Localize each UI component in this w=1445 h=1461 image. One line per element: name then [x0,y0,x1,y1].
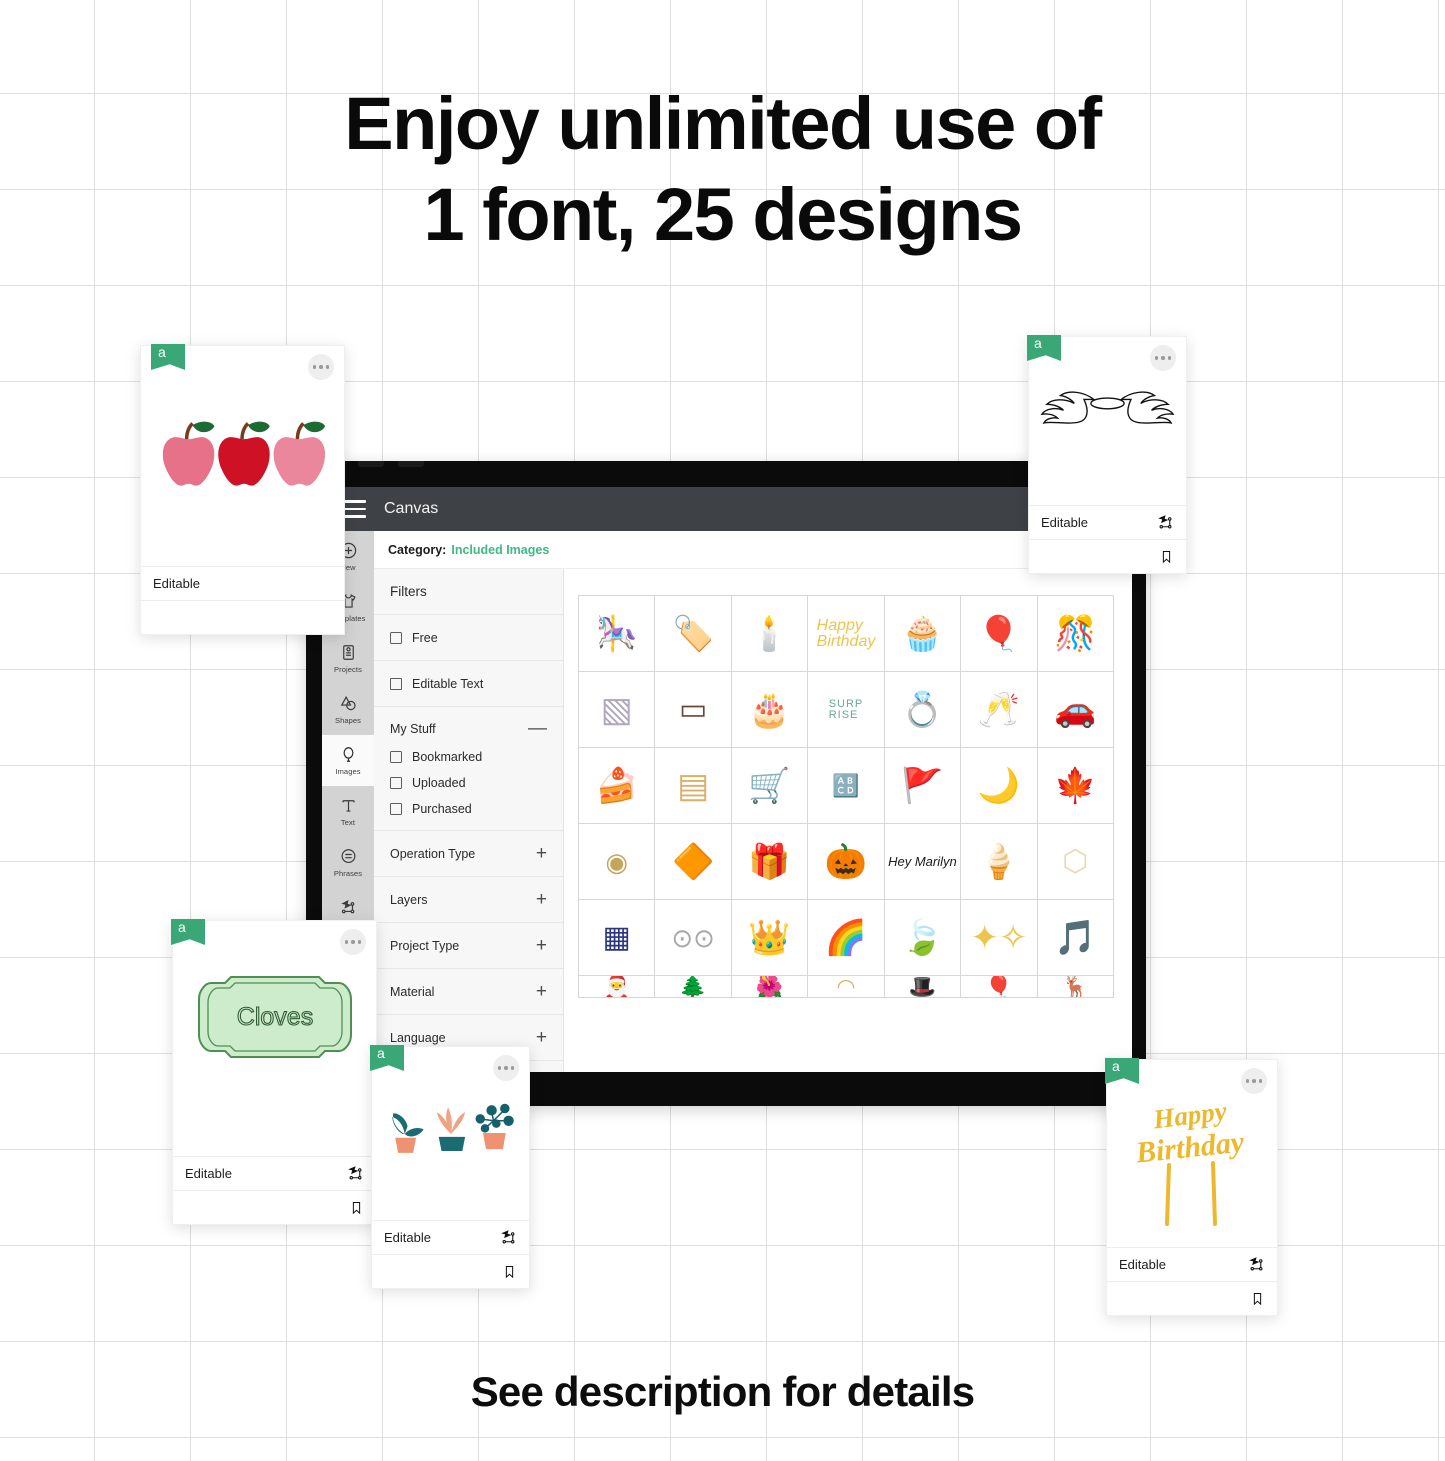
editable-label: Editable [185,1166,232,1181]
sidebar-item-phrases[interactable]: Phrases [322,837,374,888]
gnome-icon: 🎅 [603,976,630,998]
node-edit-icon[interactable] [1157,514,1174,531]
checkbox-free[interactable] [390,632,402,644]
card-footer-wings: Editable [1029,505,1186,539]
tiered-cake-icon: 🍰 [596,769,638,803]
checkbox-editable-text[interactable] [390,678,402,690]
image-cell[interactable]: 🎂 [732,672,808,748]
image-cell[interactable]: Hey Marilyn [885,824,961,900]
birthday-candles-icon: 🕯️ [748,617,790,651]
baby-letter-blocks-icon: 🔠 [832,775,859,797]
sidebar-item-images[interactable]: Images [322,735,374,786]
sidebar-item-shapes[interactable]: Shapes [322,684,374,735]
party-balloons-icon: 🎈 [985,976,1012,998]
image-cell[interactable]: 🍃 [885,900,961,976]
plus-icon-project-type[interactable]: + [536,936,547,955]
filter-section-operation-type[interactable]: Operation Type + [374,831,563,877]
image-cell[interactable]: 🚩 [885,748,961,824]
filter-free[interactable]: Free [374,615,563,661]
design-card-plants[interactable]: a [371,1046,530,1289]
image-cell[interactable]: 🥂 [961,672,1037,748]
image-cell[interactable]: 🎩 [885,976,961,998]
filters-column: Filters Free [374,569,564,1072]
image-cell[interactable]: ⊙⊙ [655,900,731,976]
editable-label: Editable [153,576,200,591]
pumpkin-icon: 🎃 [825,845,867,879]
three-potted-plants-icon [382,1094,519,1174]
bookmark-icon[interactable] [502,1264,517,1279]
filter-label-free: Free [412,631,438,645]
more-dots-icon[interactable] [340,929,366,955]
checkbox-uploaded[interactable] [390,777,402,789]
birthday-cake-sparkler-icon: 🎂 [748,693,790,727]
image-cell[interactable]: 🎃 [808,824,884,900]
filter-editable-text[interactable]: Editable Text [374,661,563,707]
card-footer-apples: Editable [141,566,344,600]
cloves-label-frame-icon: Cloves [183,969,366,1065]
gift-tag-card-icon: 🏷️ [672,617,714,651]
crown-icon: 👑 [748,921,790,955]
card-footer2-cloves [173,1190,376,1224]
image-cell[interactable]: 🎈 [961,596,1037,672]
label-material: Material [390,985,434,999]
image-cell[interactable]: 🧁 [885,596,961,672]
image-cell[interactable]: 👑 [732,900,808,976]
filter-purchased[interactable]: Purchased [374,796,563,822]
card-footer2-wings [1029,539,1186,573]
filters-heading: Filters [374,569,563,615]
image-cell[interactable]: 🏷️ [655,596,731,672]
design-card-angel-wings[interactable]: a Editable [1028,336,1187,574]
image-cell[interactable]: 🌺 [732,976,808,998]
category-label: Category: [388,543,446,557]
app-workarea: New Templates [322,531,1132,1072]
hey-marilyn-script-icon: Hey Marilyn [888,855,957,868]
black-hat-icon: 🎩 [909,976,936,998]
cupcakes-icon: 🧁 [901,617,943,651]
footer-note: See description for details [0,1368,1445,1416]
node-edit-icon[interactable] [1248,1256,1265,1273]
editable-label: Editable [1119,1257,1166,1272]
image-cell[interactable]: ▤ [655,748,731,824]
label-language: Language [390,1031,446,1045]
image-cell[interactable]: 🔠 [808,748,884,824]
giraffe-moon-icon: 🌙 [978,769,1020,803]
label-operation-type: Operation Type [390,847,475,861]
brand-badge-icon: a [370,1045,404,1071]
hexagon-tag-icon: ⬡ [1062,847,1088,877]
node-edit-icon[interactable] [347,1165,364,1182]
more-dots-icon[interactable] [308,354,334,380]
confetti-banner-icon: 🎊 [1054,617,1096,651]
sidebar-label-shapes: Shapes [335,716,361,725]
gold-sparkles-icon: ✦✧ [970,921,1027,955]
poster-canvas: Enjoy unlimited use of 1 font, 25 design… [0,0,1445,1461]
hamburger-icon[interactable] [342,500,366,518]
music-notes-icon: 🎵 [1054,921,1096,955]
folder-icon [339,643,358,662]
sidebar-item-text[interactable]: Text [322,786,374,837]
happy-birthday-gold-topper-icon: Happy Birthday [1117,1079,1267,1229]
image-grid: 🎠 🏷️ 🕯️ HappyBirthday 🧁 🎈 🎊 ▧ ▭ [578,595,1114,998]
card-preview-cloves: a Cloves [173,921,376,1156]
ornate-frame-icon: ▭ [679,695,707,725]
card-footer-cloves: Editable [173,1156,376,1190]
image-cell[interactable]: 🕯️ [732,596,808,672]
category-value[interactable]: Included Images [451,543,549,557]
badge-letter: a [377,1046,385,1060]
image-cell[interactable]: ▭ [655,672,731,748]
sidebar-label-phrases: Phrases [334,869,362,878]
gold-arch-icon: ◠ [836,976,855,998]
bookmark-icon[interactable] [349,1200,364,1215]
image-cell[interactable]: 🎠 [579,596,655,672]
more-dots-icon[interactable] [493,1055,519,1081]
champagne-toast-icon: 🥂 [978,693,1020,727]
volume-button-up[interactable] [358,461,384,467]
card-footer2-topper [1107,1281,1277,1315]
deer-antlers-icon: 🦌 [1062,976,1089,998]
baby-stroller-icon: 🛒 [748,769,790,803]
image-cell[interactable]: 🍦 [961,824,1037,900]
card-footer-plants: Editable [372,1220,529,1254]
bookmark-icon[interactable] [1159,549,1174,564]
panel-body: Filters Free [374,569,1132,1072]
design-card-apples[interactable]: a [140,345,345,635]
autumn-leaves-icon: 🍁 [1054,769,1096,803]
volume-button-down[interactable] [398,461,424,467]
node-edit-icon[interactable] [500,1229,517,1246]
thank-you-seal-icon: ◉ [605,849,628,875]
editable-label: Editable [1041,515,1088,530]
card-preview-topper: a Happy Birthday [1107,1060,1277,1247]
brand-badge-icon: a [171,919,205,945]
congrats-pennant-icon: 🚩 [901,769,943,803]
shapes-icon [339,694,358,713]
rocking-horse-icon: 🎠 [596,617,638,651]
sidebar-label-projects: Projects [334,665,362,674]
rainbow-icon: 🌈 [825,921,867,955]
plus-icon-language[interactable]: + [536,1028,547,1047]
lace-panel-icon: ▧ [601,693,633,727]
image-cell[interactable]: 🍰 [579,748,655,824]
filters-title: Filters [390,584,427,599]
label-layers: Layers [390,893,428,907]
image-cell[interactable]: 💍 [885,672,961,748]
image-cell[interactable]: 🔶 [655,824,731,900]
more-dots-icon[interactable] [1241,1068,1267,1094]
sidebar-label-text: Text [341,818,355,827]
gold-banner-icon: 🔶 [672,845,714,879]
image-cell[interactable]: 🌲 [655,976,731,998]
image-cell[interactable]: 🛒 [732,748,808,824]
filter-group-my-stuff: My Stuff — Bookmarked Uploaded [374,707,563,831]
wedding-rings-icon: ⊙⊙ [671,925,715,951]
ice-cream-cones-icon: 🍦 [978,845,1020,879]
design-card-cloves[interactable]: a Cloves Editable [172,920,377,1225]
badge-letter: a [1034,336,1042,350]
cloves-text: Cloves [236,1003,312,1031]
image-cell[interactable]: ⬡ [1038,824,1114,900]
image-cell[interactable]: 🌈 [808,900,884,976]
three-red-apples-icon [151,406,334,506]
plus-icon-operation-type[interactable]: + [536,844,547,863]
image-cell[interactable]: ✦✧ [961,900,1037,976]
tablet-device: Canvas New [306,461,1146,1106]
image-balloon-icon [339,745,358,764]
page-title: Enjoy unlimited use of 1 font, 25 design… [0,78,1445,260]
poinsettia-icon: 🌺 [756,976,783,998]
app-title: Canvas [384,500,438,518]
checkbox-purchased[interactable] [390,803,402,815]
image-cell[interactable]: SURPRISE [808,672,884,748]
image-cell[interactable]: ◠ [808,976,884,998]
badge-letter: a [178,920,186,934]
image-cell[interactable]: 🎊 [1038,596,1114,672]
image-cell[interactable]: 🎵 [1038,900,1114,976]
filter-uploaded[interactable]: Uploaded [374,770,563,796]
image-cell[interactable]: HappyBirthday [808,596,884,672]
more-dots-icon[interactable] [1150,345,1176,371]
tablet-screen: Canvas New [322,487,1132,1072]
balloon-bunch-icon: 🎈 [978,617,1020,651]
card-footer2-plants [372,1254,529,1288]
filter-section-material[interactable]: Material + [374,969,563,1015]
checkbox-bookmarked[interactable] [390,751,402,763]
my-stuff-header[interactable]: My Stuff — [374,713,563,744]
filter-label-editable-text: Editable Text [412,677,483,691]
filter-label-bookmarked: Bookmarked [412,750,482,764]
image-cell[interactable]: ▦ [579,900,655,976]
diamond-ring-icon: 💍 [901,693,943,727]
editable-label: Editable [384,1230,431,1245]
sidebar-item-projects[interactable]: Projects [322,633,374,684]
image-results-area: 🎠 🏷️ 🕯️ HappyBirthday 🧁 🎈 🎊 ▧ ▭ [564,569,1132,1072]
wedding-car-icon: 🚗 [1054,693,1096,727]
image-cell[interactable]: 🌙 [961,748,1037,824]
text-t-icon [339,796,358,815]
image-cell[interactable]: 🦌 [1038,976,1114,998]
image-cell[interactable]: 🎅 [579,976,655,998]
category-bar: Category: Included Images [374,531,1132,569]
gold-plaque-icon: ▤ [677,769,709,803]
card-preview-apples: a [141,346,344,566]
badge-letter: a [158,345,166,359]
image-cell[interactable]: 🚗 [1038,672,1114,748]
images-panel: Category: Included Images Filters [374,531,1132,1072]
brand-badge-icon: a [151,344,185,370]
card-footer2-apples [141,600,344,634]
gift-boxes-icon: 🎁 [748,845,790,879]
svg-text:Birthday: Birthday [1133,1125,1246,1169]
pine-branch-icon: 🌲 [679,976,706,998]
image-cell[interactable]: ◉ [579,824,655,900]
sidebar-label-images: Images [335,767,360,776]
badge-letter: a [1112,1059,1120,1073]
label-project-type: Project Type [390,939,459,953]
image-cell[interactable]: 🍁 [1038,748,1114,824]
leaf-spray-icon: 🍃 [901,921,943,955]
bookmark-icon[interactable] [1250,1291,1265,1306]
card-footer-topper: Editable [1107,1247,1277,1281]
plus-icon-material[interactable]: + [536,982,547,1001]
filter-label-uploaded: Uploaded [412,776,466,790]
design-card-birthday-topper[interactable]: a Happy Birthday Editable [1106,1059,1278,1316]
filter-section-layers[interactable]: Layers + [374,877,563,923]
image-cell[interactable]: ▧ [579,672,655,748]
minus-icon[interactable]: — [528,719,547,738]
image-cell[interactable]: 🎁 [732,824,808,900]
brand-badge-icon: a [1027,335,1061,361]
my-stuff-label: My Stuff [390,722,436,736]
filter-label-purchased: Purchased [412,802,472,816]
filter-bookmarked[interactable]: Bookmarked [374,744,563,770]
card-preview-wings: a [1029,337,1186,505]
image-cell[interactable]: 🎈 [961,976,1037,998]
editable-nodes-icon [339,898,358,917]
app-header: Canvas [322,487,1132,531]
surprise-blocks-icon: SURPRISE [829,699,864,721]
plus-icon-layers[interactable]: + [536,890,547,909]
filter-section-project-type[interactable]: Project Type + [374,923,563,969]
speech-bubble-icon [339,847,358,866]
happy-birthday-topper-icon: HappyBirthday [817,618,876,650]
card-preview-plants: a [372,1047,529,1220]
angel-wings-halo-icon [1039,381,1176,461]
blue-damask-tile-icon: ▦ [603,923,631,953]
